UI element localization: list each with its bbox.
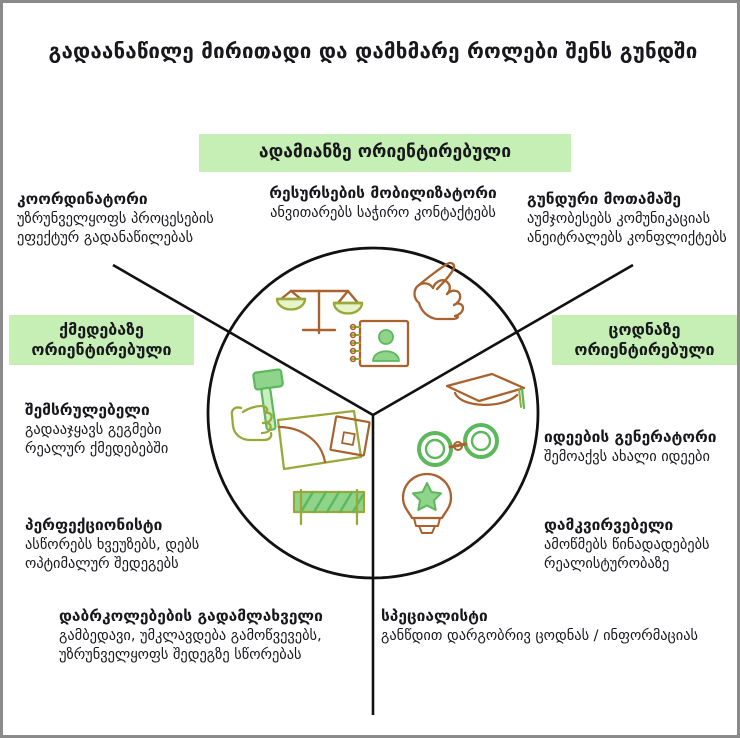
role-coordinator: კოორდინატორი უზრუნველყოფს პროცესების ეფე… — [17, 189, 252, 248]
role-specialist: სპეციალისტი განწდით დარგობრივ ცოდნას / ი… — [381, 606, 711, 646]
role-idea-generator-desc-1: შემოაქვს ახალი იდეები — [544, 448, 740, 467]
role-perfectionist-heading: პერფექციონისტი — [25, 515, 240, 535]
balance-scales-icon — [277, 291, 362, 333]
role-implementer-heading: შემსრულებელი — [25, 400, 230, 420]
role-resource-mobiliser-desc-1: ანვითარებს საჭირო კონტაქტებს — [248, 204, 518, 223]
role-coordinator-desc-2: ეფექტურ გადანაწილებას — [17, 229, 252, 248]
role-resource-mobiliser: რესურსების მობილიზატორი ანვითარებს საჭირ… — [248, 183, 518, 223]
role-specialist-heading: სპეციალისტი — [381, 606, 711, 626]
role-perfectionist-desc-2: ოპტიმალურ შედეგებს — [25, 555, 240, 574]
gavel-hand-icon — [232, 369, 283, 440]
category-top-text: ადამიანზე ორიენტირებული — [259, 142, 511, 164]
category-right-line1: ცოდნაზე — [609, 320, 681, 340]
role-monitor-desc-1: ამოწმებს წინადადებებს — [544, 536, 740, 555]
category-right-line2: ორიენტირებული — [574, 340, 714, 360]
role-shaper: დაბრკოლებების გადამლახველი გამბედავი, უმ… — [59, 606, 359, 665]
category-label-right: ცოდნაზე ორიენტირებული — [552, 315, 737, 365]
role-monitor-heading: დამკვირვებელი — [544, 515, 740, 535]
role-perfectionist-desc-1: ასწორებს ხვეუზებს, დებს — [25, 536, 240, 555]
graduation-cap-icon — [447, 374, 524, 408]
role-implementer-desc-2: რეალურ ქმედებებში — [25, 440, 230, 459]
role-shaper-desc-1: გამბედავი, უმკლავდება გამოწვევებს, — [59, 627, 359, 646]
drafting-shapes-icon — [278, 411, 370, 469]
role-implementer-desc-1: გადააჯყავს გეგმები — [25, 421, 230, 440]
category-label-left: ქმედებაზე ორიენტირებული — [9, 315, 194, 365]
role-team-player-heading: გუნდური მოთამაშე — [527, 189, 740, 209]
category-left-line2: ორიენტირებული — [31, 340, 171, 360]
role-implementer: შემსრულებელი გადააჯყავს გეგმები რეალურ ქ… — [25, 400, 230, 459]
role-monitor: დამკვირვებელი ამოწმებს წინადადებებს რეალ… — [544, 515, 740, 574]
role-coordinator-desc-1: უზრუნველყოფს პროცესების — [17, 210, 252, 229]
role-team-player-desc-1: აუმჯობესებს კომუნიკაციას — [527, 210, 740, 229]
binoculars-icon — [419, 425, 497, 465]
role-team-player: გუნდური მოთამაშე აუმჯობესებს კომუნიკაცია… — [527, 189, 740, 248]
category-left-line1: ქმედებაზე — [59, 320, 144, 340]
role-resource-mobiliser-heading: რესურსების მობილიზატორი — [248, 183, 518, 203]
infographic-page: გადაანაწილე მირითადი და დამხმარე როლები … — [0, 0, 740, 738]
role-team-player-desc-2: ანეიტრალებს კონფლიქტებს — [527, 229, 740, 248]
role-shaper-heading: დაბრკოლებების გადამლახველი — [59, 606, 359, 626]
role-idea-generator: იდეების გენერატორი შემოაქვს ახალი იდეები — [544, 427, 740, 467]
lightbulb-star-icon — [403, 474, 451, 533]
road-barrier-icon — [294, 490, 364, 524]
role-shaper-desc-2: უზრუნველყოფს შედეგზე სწორებას — [59, 646, 359, 665]
role-perfectionist: პერფექციონისტი ასწორებს ხვეუზებს, დებს ო… — [25, 515, 240, 574]
role-specialist-desc-1: განწდით დარგობრივ ცოდნას / ინფორმაციას — [381, 627, 711, 646]
role-monitor-desc-2: რეალისტურობაზე — [544, 555, 740, 574]
category-label-top: ადამიანზე ორიენტირებული — [199, 134, 571, 172]
role-coordinator-heading: კოორდინატორი — [17, 189, 252, 209]
contact-book-icon — [351, 321, 408, 366]
role-idea-generator-heading: იდეების გენერატორი — [544, 427, 740, 447]
